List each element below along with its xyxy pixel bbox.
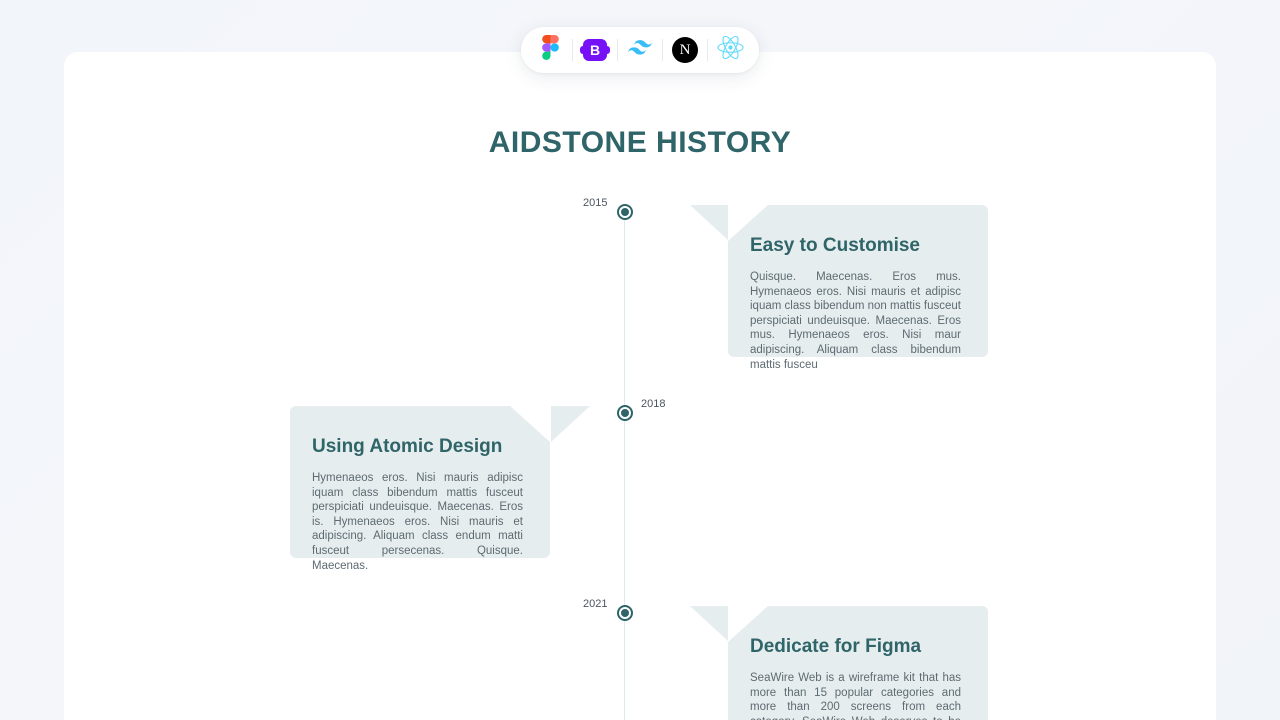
figma-icon [542, 35, 559, 65]
card-notch-mask-2015 [728, 205, 768, 241]
page-canvas: AIDSTONE HISTORY 2015 Easy to Customise … [64, 52, 1216, 720]
card-body-2018: Hymenaeos eros. Nisi mauris adipisc iqua… [312, 471, 523, 573]
nextjs-tool-button[interactable]: N [670, 35, 700, 65]
react-icon [717, 35, 744, 65]
nextjs-icon: N [672, 37, 698, 63]
timeline-card-2018[interactable]: Using Atomic Design Hymenaeos eros. Nisi… [290, 406, 550, 558]
timeline-year-2018: 2018 [641, 398, 665, 410]
toolbar-separator-3 [662, 39, 663, 61]
card-notch-mask-2018 [510, 406, 550, 442]
toolbar-separator-1 [572, 39, 573, 61]
timeline-node-2015[interactable] [617, 204, 633, 220]
card-pointer-2018 [551, 406, 590, 442]
timeline-year-2021: 2021 [583, 598, 607, 610]
card-title-2015: Easy to Customise [750, 235, 961, 257]
tailwind-tool-button[interactable] [625, 35, 655, 65]
card-notch-mask-2021 [728, 606, 768, 642]
timeline-card-2015[interactable]: Easy to Customise Quisque. Maecenas. Ero… [728, 205, 988, 357]
timeline-node-2021[interactable] [617, 605, 633, 621]
bootstrap-icon: B [583, 39, 607, 61]
nextjs-icon-letter: N [680, 42, 691, 59]
card-title-2018: Using Atomic Design [312, 436, 523, 458]
toolbar-separator-4 [707, 39, 708, 61]
timeline-year-2015: 2015 [583, 197, 607, 209]
tailwind-icon [628, 40, 652, 60]
bootstrap-tool-button[interactable]: B [580, 35, 610, 65]
timeline-node-2018[interactable] [617, 405, 633, 421]
card-pointer-2021 [690, 606, 729, 642]
timeline-axis-line [624, 212, 625, 720]
timeline-card-2021[interactable]: Dedicate for Figma SeaWire Web is a wire… [728, 606, 988, 720]
figma-tool-button[interactable] [535, 35, 565, 65]
react-tool-button[interactable] [715, 35, 745, 65]
toolbar-separator-2 [617, 39, 618, 61]
bootstrap-icon-letter: B [590, 42, 600, 58]
page-title: AIDSTONE HISTORY [64, 126, 1216, 160]
framework-switcher-toolbar[interactable]: B N [521, 27, 759, 73]
card-body-2015: Quisque. Maecenas. Eros mus. Hymenaeos e… [750, 270, 961, 372]
card-pointer-2015 [690, 205, 729, 241]
card-title-2021: Dedicate for Figma [750, 636, 961, 658]
card-body-2021: SeaWire Web is a wireframe kit that has … [750, 671, 961, 720]
